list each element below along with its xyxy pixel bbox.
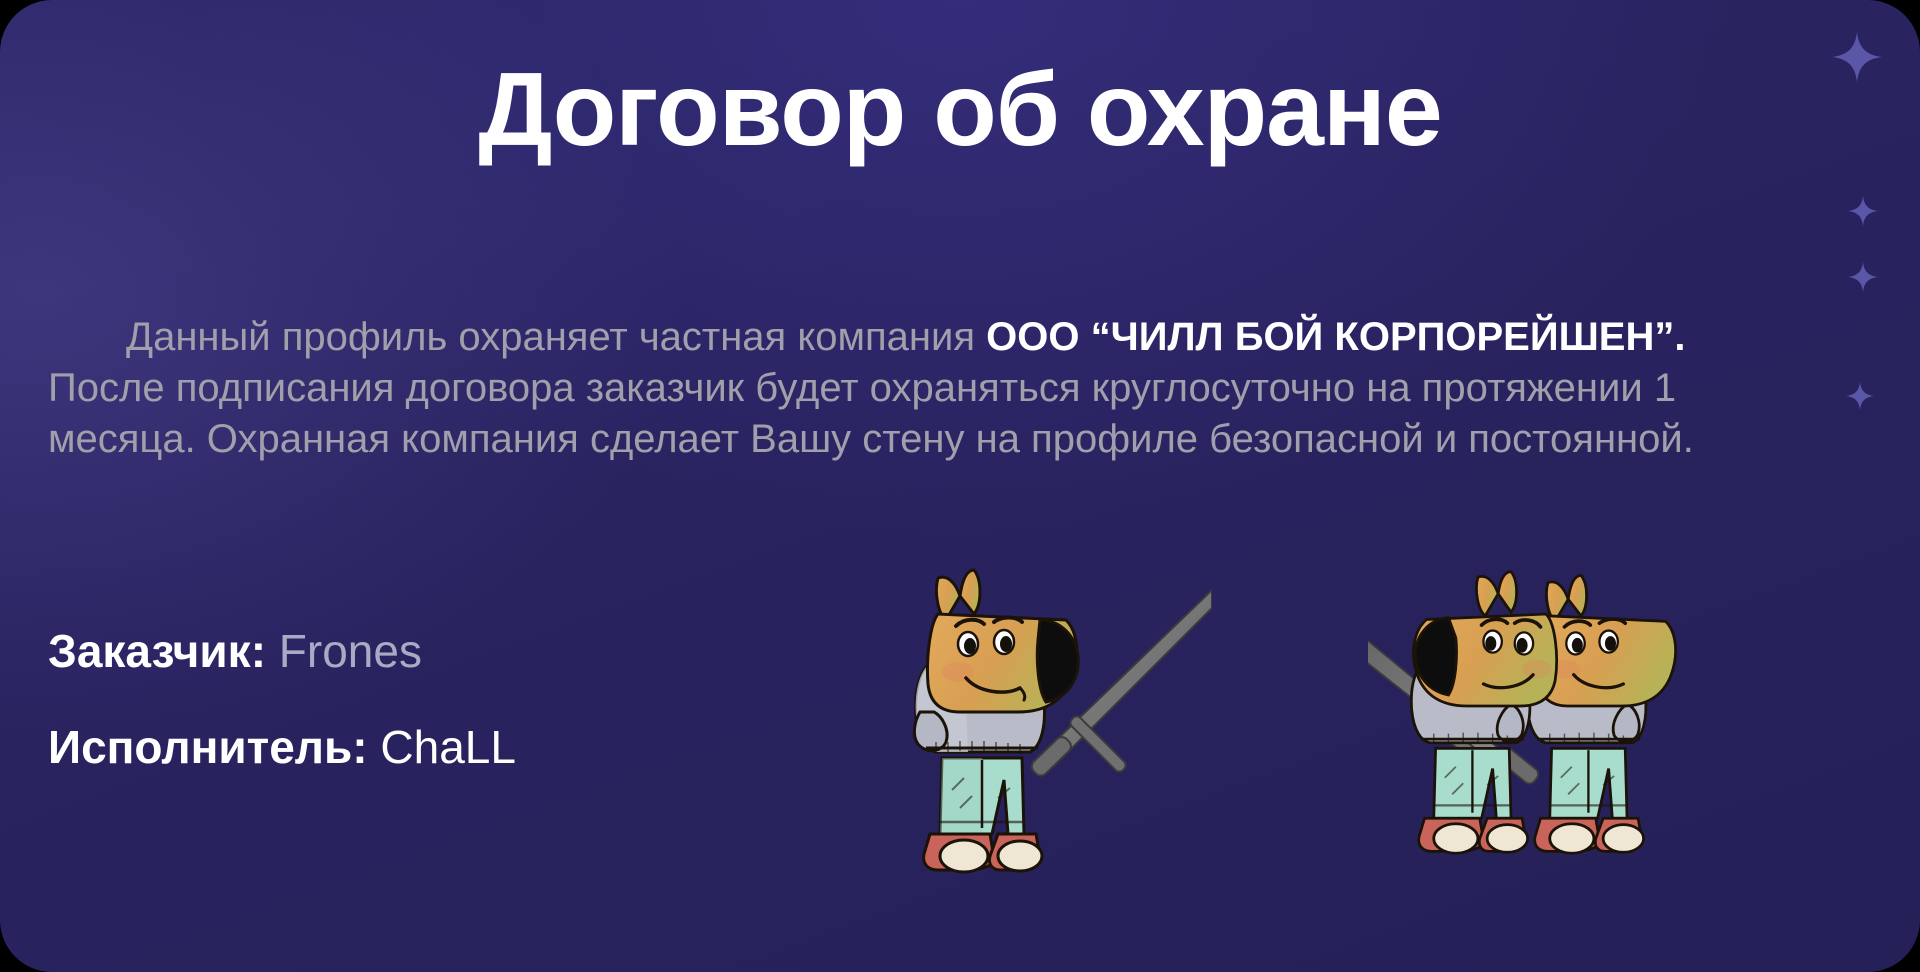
contract-body: Данный профиль охраняет частная компания… <box>48 312 1768 466</box>
role-customer-value: Frones <box>279 625 422 677</box>
page-title: Договор об охране <box>0 52 1920 168</box>
sparkle-icon-4 <box>1846 382 1874 410</box>
roles-block: Заказчик: Frones Исполнитель: ChaLL <box>48 628 1448 770</box>
role-contractor-value: ChaLL <box>380 721 516 773</box>
paragraph-rest: После подписания договора заказчик будет… <box>48 366 1694 461</box>
sparkle-icon-3 <box>1848 262 1878 292</box>
contract-paragraph: Данный профиль охраняет частная компания… <box>48 312 1768 466</box>
contract-card: Договор об охране Данный профиль охраняе… <box>0 0 1920 972</box>
chill-guy-dog-back <box>1527 575 1675 853</box>
company-name: ООО “ЧИЛЛ БОЙ КОРПОРЕЙШЕН”. <box>986 315 1685 359</box>
role-customer: Заказчик: Frones <box>48 628 1448 674</box>
role-contractor: Исполнитель: ChaLL <box>48 724 1448 770</box>
sparkle-icon-2 <box>1848 196 1878 226</box>
paragraph-lead: Данный профиль охраняет частная компания <box>126 315 986 359</box>
role-customer-label: Заказчик: <box>48 625 266 677</box>
role-contractor-label: Исполнитель: <box>48 721 368 773</box>
